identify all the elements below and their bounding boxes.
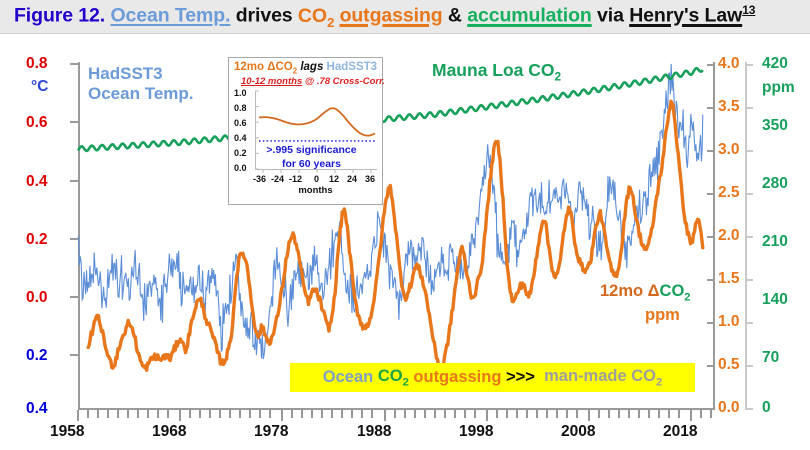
label-dco2-line2: ppm bbox=[645, 306, 680, 325]
inset-series-line bbox=[259, 108, 375, 135]
inset-note-line2: for 60 years bbox=[235, 158, 388, 170]
banner-ocean: Ocean bbox=[323, 368, 373, 387]
banner-co2-subscript: 2 bbox=[403, 376, 409, 388]
inset-x-axis-label: months bbox=[239, 185, 392, 196]
inset-x-tick-neg36: -36 bbox=[253, 174, 266, 184]
banner-manmade: man-made CO2 bbox=[544, 367, 662, 388]
label-dco2-line1: 12mo ΔCO2 bbox=[600, 282, 691, 303]
inset-x-tick-12: 12 bbox=[329, 174, 339, 184]
label-mauna-loa-subscript: 2 bbox=[555, 70, 562, 84]
inset-x-tick-neg24: -24 bbox=[271, 174, 284, 184]
inset-x-tick-36: 36 bbox=[365, 174, 375, 184]
banner-co2: CO2 bbox=[378, 367, 409, 388]
banner-arrow: >>> bbox=[506, 368, 535, 387]
banner-manmade-subscript: 2 bbox=[656, 376, 662, 388]
label-dco2-co2: CO2 bbox=[660, 282, 691, 300]
series-line-hadsst3 bbox=[78, 64, 703, 359]
inset-x-tick-0: 0 bbox=[314, 174, 319, 184]
figure-root: Figure 12. Ocean Temp. drives CO2 outgas… bbox=[0, 0, 810, 450]
banner-outgassing: outgassing bbox=[413, 368, 501, 387]
label-hadsst3: HadSST3 Ocean Temp. bbox=[88, 64, 194, 104]
label-mauna-loa: Mauna Loa CO2 bbox=[432, 60, 561, 84]
inset-note-line1: >.995 significance bbox=[235, 144, 388, 156]
inset-x-tick-neg12: -12 bbox=[289, 174, 302, 184]
label-hadsst3-line2: Ocean Temp. bbox=[88, 84, 194, 104]
conclusion-banner: Ocean CO2 outgassing >>> man-made CO2 bbox=[290, 363, 695, 392]
inset-crosscorrelation-chart: 12mo ΔCO2 lags HadSST3 10-12 months @ .7… bbox=[228, 57, 383, 205]
label-dco2-subscript: 2 bbox=[684, 291, 690, 303]
label-hadsst3-line1: HadSST3 bbox=[88, 64, 194, 84]
inset-x-tick-24: 24 bbox=[347, 174, 357, 184]
